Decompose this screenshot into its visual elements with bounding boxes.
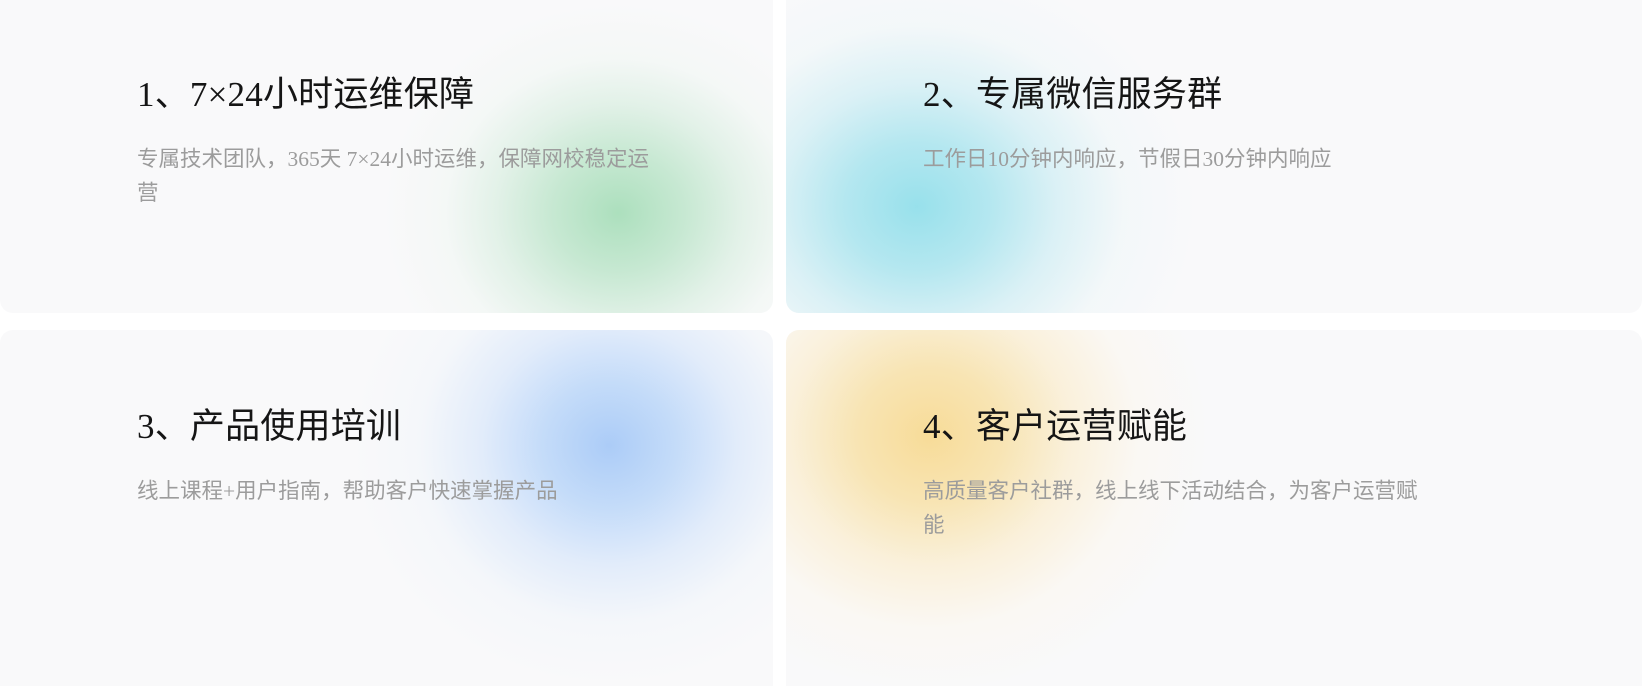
card-2-title: 2、专属微信服务群 [923,74,1612,116]
card-4-body: 4、客户运营赋能 高质量客户社群，线上线下活动结合，为客户运营赋能 [923,406,1612,542]
card-4-title: 4、客户运营赋能 [923,406,1612,448]
card-1-body: 1、7×24小时运维保障 专属技术团队，365天 7×24小时运维，保障网校稳定… [137,74,743,210]
service-card-grid: 1、7×24小时运维保障 专属技术团队，365天 7×24小时运维，保障网校稳定… [0,0,1646,658]
card-2-description: 工作日10分钟内响应，节假日30分钟内响应 [923,142,1423,176]
card-3-title: 3、产品使用培训 [137,406,743,448]
service-card-4[interactable]: 4、客户运营赋能 高质量客户社群，线上线下活动结合，为客户运营赋能 [786,330,1642,686]
service-card-2[interactable]: 2、专属微信服务群 工作日10分钟内响应，节假日30分钟内响应 [786,0,1642,313]
card-3-body: 3、产品使用培训 线上课程+用户指南，帮助客户快速掌握产品 [137,406,743,508]
card-1-title: 1、7×24小时运维保障 [137,74,743,116]
card-3-description: 线上课程+用户指南，帮助客户快速掌握产品 [137,474,652,508]
service-card-3[interactable]: 3、产品使用培训 线上课程+用户指南，帮助客户快速掌握产品 [0,330,773,686]
card-1-description: 专属技术团队，365天 7×24小时运维，保障网校稳定运营 [137,142,652,210]
card-4-description: 高质量客户社群，线上线下活动结合，为客户运营赋能 [923,474,1423,542]
service-card-1[interactable]: 1、7×24小时运维保障 专属技术团队，365天 7×24小时运维，保障网校稳定… [0,0,773,313]
card-2-body: 2、专属微信服务群 工作日10分钟内响应，节假日30分钟内响应 [923,74,1612,176]
